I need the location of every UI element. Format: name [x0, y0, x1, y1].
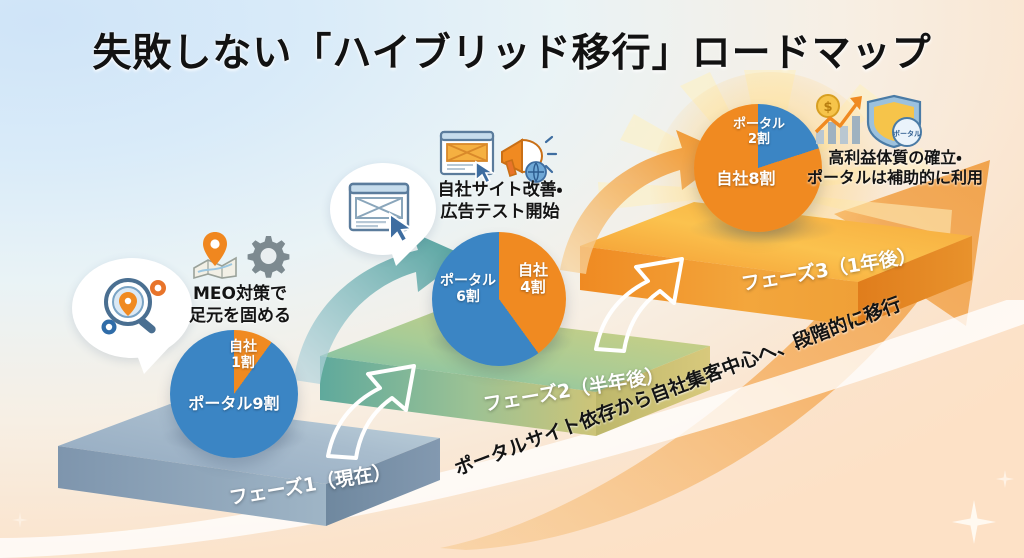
phase3-icons: $ ポータル [810, 92, 930, 150]
phase1-icons [188, 228, 292, 280]
caption-phase2: 自社サイト改善・ 広告テスト開始 [410, 180, 590, 224]
caption-phase1: MEO対策で 足元を固める [170, 284, 310, 328]
pie-label-phase3-own: 自社8割 [700, 170, 792, 188]
shield-badge-label: ポータル [893, 129, 921, 138]
map-pin-icon [194, 232, 236, 278]
page-title: 失敗しない「ハイブリッド移行」ロードマップ [0, 22, 1024, 78]
pie-label-phase2-portal: ポータル 6割 [433, 274, 503, 305]
coin-growth-chart-icon: $ [816, 95, 862, 144]
pie-label-phase1-portal: ポータル9割 [178, 395, 290, 413]
pie-label-phase1-own: 自社 1割 [216, 340, 270, 371]
caption-phase3: 高利益体質の確立・ ポータルは補助的に利用 [790, 148, 1000, 189]
megaphone-icon [502, 137, 556, 182]
shield-portal-icon: ポータル [868, 96, 921, 147]
svg-text:$: $ [823, 100, 832, 115]
pie-label-phase2-own: 自社 4割 [505, 262, 561, 296]
phase2-icons [438, 128, 558, 184]
magnifier-location-gears-icon [92, 272, 174, 344]
browser-window-icon [441, 132, 493, 183]
pie-label-phase3-portal: ポータル 2割 [728, 118, 790, 147]
gear-icon [248, 236, 290, 278]
infographic-canvas: フェーズ1（現在） フェーズ2（半年後） [0, 0, 1024, 558]
